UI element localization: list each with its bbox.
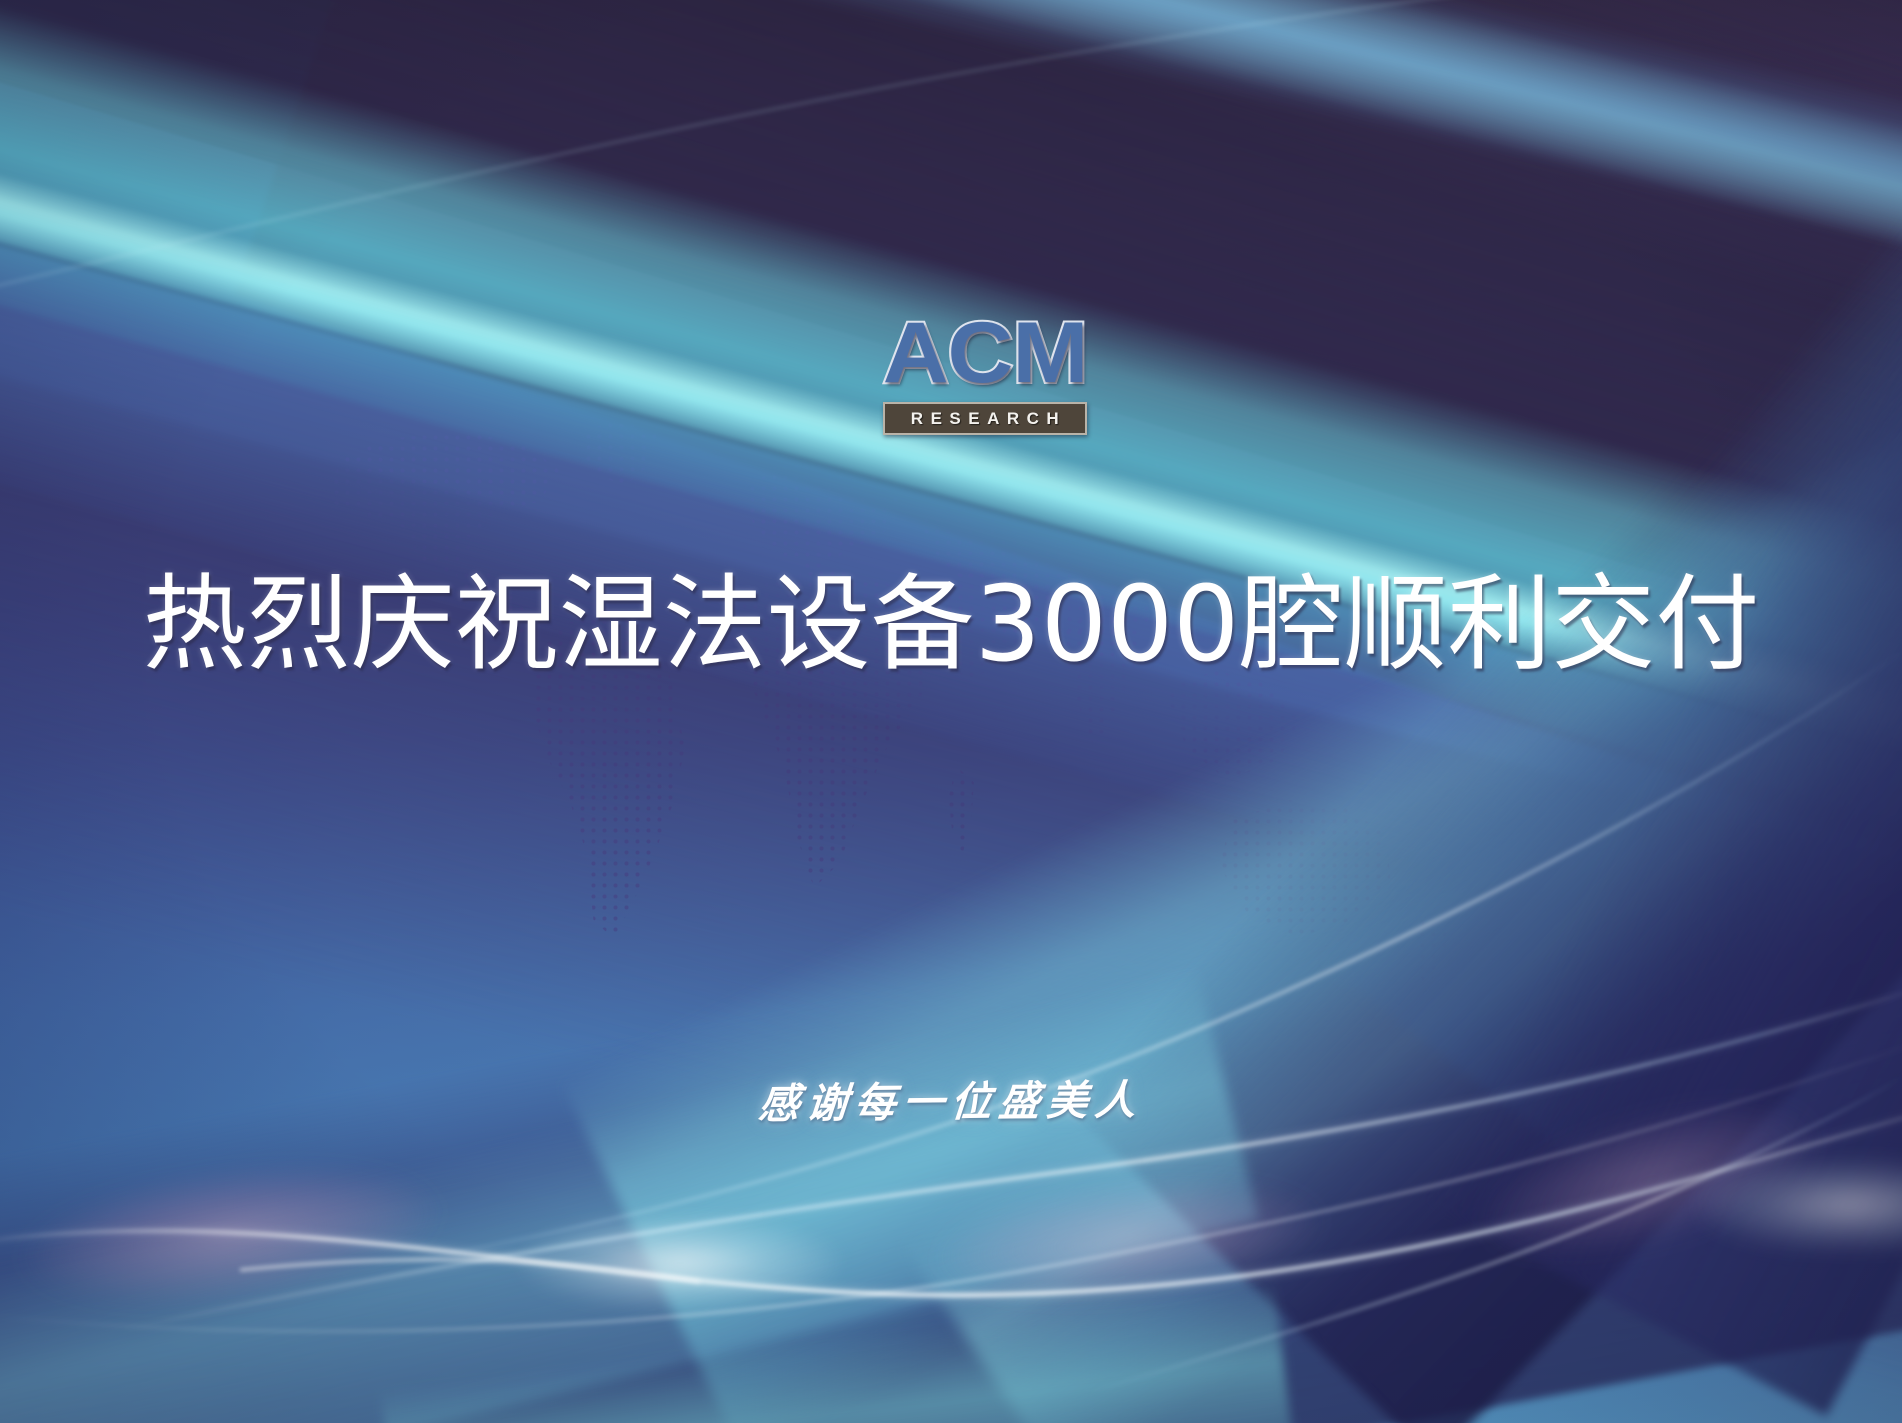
presentation-slide: ACM RESEARCH 热烈庆祝湿法设备3000腔顺利交付 感谢每一位盛美人	[0, 0, 1902, 1423]
page-title: 热烈庆祝湿法设备3000腔顺利交付	[0, 565, 1902, 684]
acm-research-logo: ACM RESEARCH	[883, 307, 1087, 437]
landmass-australia	[1208, 794, 1398, 944]
acm-wordmark: ACM	[883, 307, 1087, 399]
acm-wordmark-text: ACM	[877, 307, 1093, 399]
landmass-greenland	[572, 420, 664, 500]
landmass-madagascar	[946, 766, 980, 858]
world-map-watermark	[300, 420, 1600, 1040]
landmass-southeast-asia	[1156, 668, 1306, 788]
landmass-new-zealand	[1406, 918, 1460, 992]
research-tagline-bar: RESEARCH	[883, 402, 1087, 435]
research-tagline-text: RESEARCH	[904, 409, 1066, 429]
landmass-north-america	[320, 432, 570, 582]
